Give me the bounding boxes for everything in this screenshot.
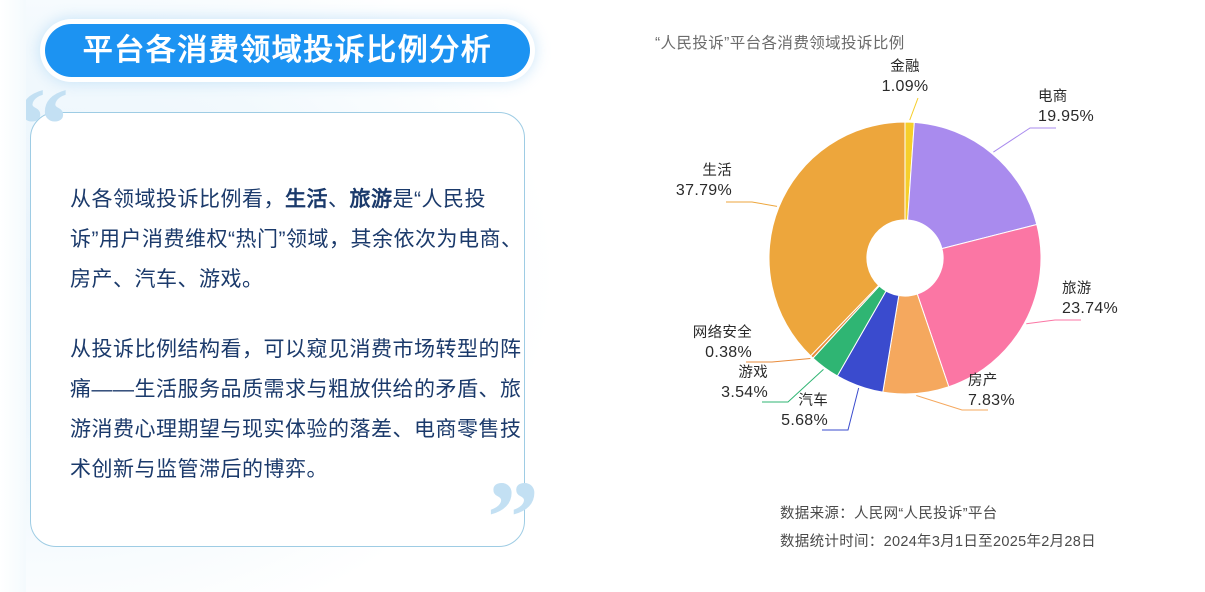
leader-line-0 <box>910 98 918 120</box>
pie-label-2: 旅游23.74% <box>1062 280 1118 318</box>
chart-footnotes: 数据来源：人民网“人民投诉”平台 数据统计时间：2024年3月1日至2025年2… <box>780 500 1200 556</box>
pie-label-0: 金融1.09% <box>815 58 995 96</box>
pie-label-value-7: 37.79% <box>600 181 732 200</box>
leader-line-2 <box>1026 320 1081 324</box>
pie-label-6: 网络安全0.38% <box>600 324 752 362</box>
pie-label-value-4: 5.68% <box>600 411 828 430</box>
leader-line-7 <box>726 202 777 206</box>
pie-label-7: 生活37.79% <box>600 162 732 200</box>
pie-label-value-0: 1.09% <box>815 77 995 96</box>
pie-label-name-6: 网络安全 <box>600 324 752 343</box>
quote-body: 从各领域投诉比例看，生活、旅游是“人民投诉”用户消费维权“热门”领域，其余依次为… <box>70 180 532 490</box>
page-title-badge: 平台各消费领域投诉比例分析 <box>45 24 530 77</box>
pie-label-name-1: 电商 <box>1038 88 1094 107</box>
footnote-period: 数据统计时间：2024年3月1日至2025年2月28日 <box>780 528 1200 556</box>
pie-label-name-7: 生活 <box>600 162 732 181</box>
quote-p1-part-a: 从各领域投诉比例看， <box>70 188 285 211</box>
pie-label-value-3: 7.83% <box>968 391 1015 410</box>
pie-label-value-6: 0.38% <box>600 343 752 362</box>
pie-label-1: 电商19.95% <box>1038 88 1094 126</box>
pie-label-value-5: 3.54% <box>600 383 768 402</box>
pie-label-value-2: 23.74% <box>1062 299 1118 318</box>
left-panel: 平台各消费领域投诉比例分析 “ ” 从各领域投诉比例看，生活、旅游是“人民投诉”… <box>0 0 600 592</box>
pie-label-name-0: 金融 <box>815 58 995 77</box>
leader-line-6 <box>746 358 810 362</box>
pie-label-name-5: 游戏 <box>600 364 768 383</box>
quote-paragraph-2: 从投诉比例结构看，可以窥见消费市场转型的阵痛——生活服务品质需求与粗放供给的矛盾… <box>70 330 532 490</box>
page-title: 平台各消费领域投诉比例分析 <box>83 36 493 66</box>
quote-p1-bold-travel: 旅游 <box>350 188 393 211</box>
pie-label-name-3: 房产 <box>968 372 1015 391</box>
quote-open-icon: “ <box>17 73 69 177</box>
pie-label-name-2: 旅游 <box>1062 280 1118 299</box>
leader-line-1 <box>993 128 1056 152</box>
pie-label-3: 房产7.83% <box>968 372 1015 410</box>
footnote-source: 数据来源：人民网“人民投诉”平台 <box>780 500 1200 528</box>
quote-p1-part-c: 、 <box>328 188 350 211</box>
right-panel: “人民投诉”平台各消费领域投诉比例 金融1.09%电商19.95%旅游23.74… <box>600 0 1205 592</box>
pie-label-value-1: 19.95% <box>1038 107 1094 126</box>
quote-paragraph-1: 从各领域投诉比例看，生活、旅游是“人民投诉”用户消费维权“热门”领域，其余依次为… <box>70 180 532 300</box>
quote-p1-bold-life: 生活 <box>285 188 328 211</box>
pie-label-5: 游戏3.54% <box>600 364 768 402</box>
donut-chart: 金融1.09%电商19.95%旅游23.74%房产7.83%汽车5.68%游戏3… <box>600 0 1205 480</box>
